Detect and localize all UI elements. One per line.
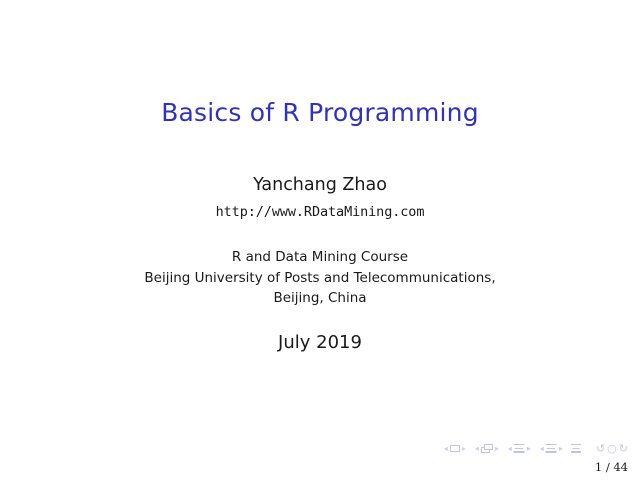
slide-nav-group[interactable]: ◂ ▸ [443, 445, 467, 453]
institute-line-university: Beijing University of Posts and Telecomm… [0, 268, 640, 289]
doc-nav-group[interactable]: ↺ ○ ↻ [596, 443, 628, 454]
next-subsection-arrow-icon[interactable]: ▸ [526, 445, 532, 453]
prev-slide-arrow-icon[interactable]: ◂ [443, 445, 449, 453]
institute-block: R and Data Mining Course Beijing Univers… [0, 247, 640, 309]
frame-nav-group[interactable]: ◂ ▸ [474, 444, 500, 453]
section-icon[interactable] [546, 444, 557, 453]
beamer-navigation-bar[interactable]: ◂ ▸ ◂ ▸ ◂ ▸ ◂ ▸ ↺ ○ ↻ [443, 443, 628, 454]
presentation-icon[interactable] [571, 444, 581, 453]
forward-icon[interactable]: ↻ [619, 443, 628, 454]
prev-frame-arrow-icon[interactable]: ◂ [474, 445, 480, 453]
presentation-date: July 2019 [0, 331, 640, 355]
back-icon[interactable]: ↺ [596, 443, 605, 454]
page-title: Basics of R Programming [0, 98, 640, 128]
next-frame-arrow-icon[interactable]: ▸ [494, 445, 500, 453]
subsection-nav-group[interactable]: ◂ ▸ [507, 444, 532, 453]
next-section-arrow-icon[interactable]: ▸ [558, 445, 564, 453]
subsection-icon[interactable] [514, 444, 525, 453]
institute-line-city: Beijing, China [0, 288, 640, 309]
next-slide-arrow-icon[interactable]: ▸ [461, 445, 467, 453]
frame-icon[interactable] [481, 444, 493, 453]
institute-line-course: R and Data Mining Course [0, 247, 640, 268]
page-number: 1 / 44 [595, 460, 628, 474]
prev-section-arrow-icon[interactable]: ◂ [539, 445, 545, 453]
slide-icon[interactable] [450, 445, 460, 452]
slide-canvas: Basics of R Programming Yanchang Zhao ht… [0, 0, 640, 480]
prev-subsection-arrow-icon[interactable]: ◂ [507, 445, 513, 453]
author-website-link[interactable]: http://www.RDataMining.com [0, 203, 640, 221]
author-name: Yanchang Zhao [0, 174, 640, 196]
section-nav-group[interactable]: ◂ ▸ [539, 444, 564, 453]
presentation-nav-group[interactable] [571, 444, 581, 453]
search-icon[interactable]: ○ [607, 443, 617, 454]
